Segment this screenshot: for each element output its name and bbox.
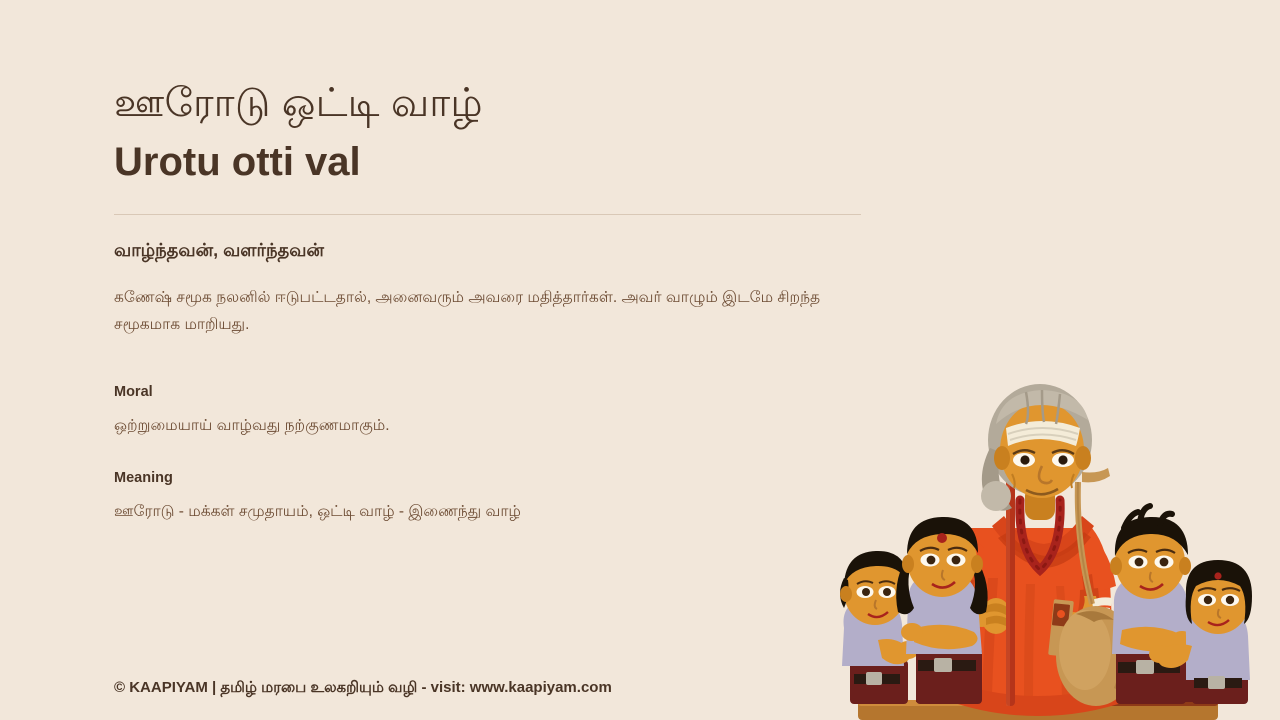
page-title-romanized: Urotu otti val: [114, 138, 361, 186]
meaning-label: Meaning: [114, 470, 173, 486]
elder-head: [981, 384, 1110, 511]
moral-text: ஒற்றுமையாய் வாழ்வது நற்குணமாகும்.: [114, 414, 390, 439]
child-left-girl: [896, 517, 987, 704]
title-divider: [114, 214, 861, 215]
meaning-text: ஊரோடு - மக்கள் சமுதாயம், ஒட்டி வாழ் - இண…: [114, 500, 521, 525]
elder-with-children-illustration: [820, 378, 1280, 720]
moral-label: Moral: [114, 384, 153, 400]
footer-credit: © KAAPIYAM | தமிழ் மரபை உலகறியும் வழி - …: [114, 679, 612, 698]
page-title-tamil: ஊரோடு ஒட்டி வாழ்: [114, 78, 483, 128]
poster-page: ஊரோடு ஒட்டி வாழ் Urotu otti val வாழ்ந்தவ…: [0, 0, 1280, 720]
story-body: கணேஷ் சமூக நலனில் ஈடுபட்டதால், அனைவரும் …: [114, 285, 854, 338]
child-right-boy: [1110, 506, 1193, 704]
story-heading: வாழ்ந்தவன், வளர்ந்தவன்: [114, 240, 324, 263]
